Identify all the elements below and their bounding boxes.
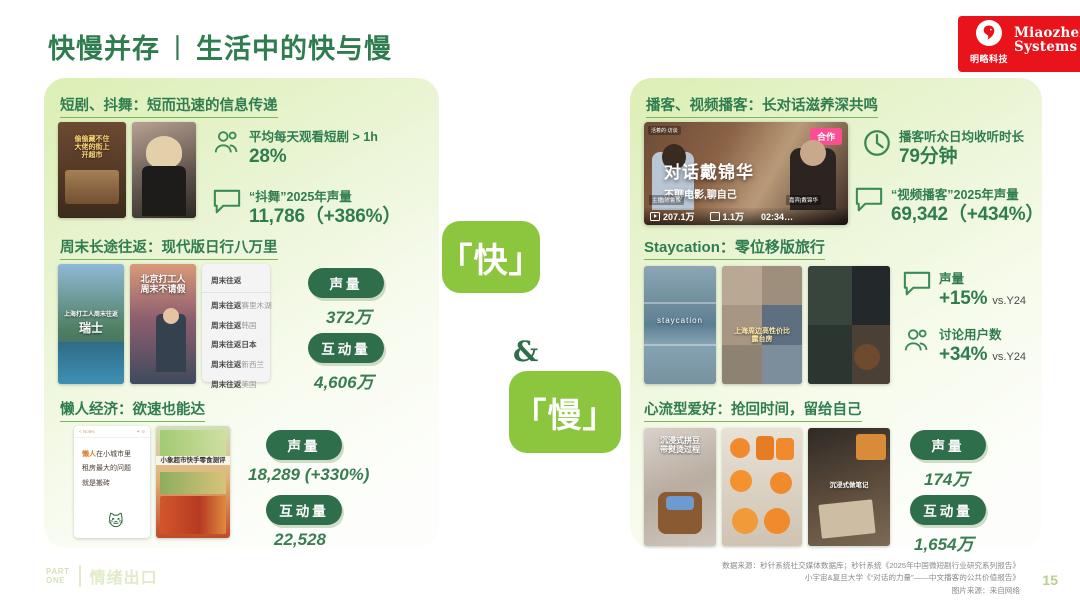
perler-bear-hat [666, 496, 694, 510]
comment-count-icon [710, 212, 720, 221]
slow-pill: 「慢」 [509, 371, 621, 453]
stat-listen-text: 播客听众日均收听时长 79分钟 [899, 128, 1024, 167]
metric-value-volume-flow: 174万 [924, 465, 969, 490]
carrot-bead-3 [776, 438, 794, 460]
part-label: PART ONE 情绪出口 [46, 564, 158, 588]
carrot-bead-2 [756, 436, 774, 460]
craft-paper [818, 499, 875, 538]
switzerland-lake [58, 342, 124, 384]
stat-video-podcast-text: “视频播客”2025年声量 69,342（+434%） [891, 186, 1044, 225]
suggest-row-header[interactable]: 周末往返 [202, 271, 270, 293]
metric-value-engagement-flow: 1,654万 [914, 530, 974, 555]
video-duration: 02:34… [761, 212, 793, 222]
snack-collage-caption: 小象超市快手零食测评 [156, 456, 230, 465]
snack-row-1 [160, 430, 226, 456]
stat-staycation-users-value: +34% [939, 344, 987, 365]
section-title-short-drama: 短剧、抖舞：短而迅速的信息传递 [60, 94, 278, 118]
slow-pill-label: 「慢」 [513, 388, 618, 437]
metric-value-volume-lazy: 18,289 (+330%) [248, 465, 369, 485]
logo-en-line2: Systems [1014, 41, 1080, 55]
snack-row-3 [160, 496, 226, 534]
metric-pill-engagement-lazy: 互动量 [266, 495, 342, 525]
perler-caption: 沉浸式拼豆带熨烫过程 [644, 436, 716, 454]
note-line1-prefix: 懒人 [82, 449, 96, 458]
carrot-bead-7 [764, 508, 790, 534]
miaozhen-logo: 明略科技 Miaozhen Systems [958, 16, 1080, 72]
drama-poster: 偷偷藏不住大佬的街上开超市 [58, 122, 126, 218]
stat-staycation-volume: 声量 +15% vs.Y24 [902, 270, 1026, 309]
comment-icon [902, 270, 932, 303]
title-divider: 丨 [160, 34, 196, 64]
stat-staycation-users-label: 讨论用户数 [939, 328, 1002, 342]
people-icon [212, 128, 242, 163]
video-play-group: 207.1万 [650, 210, 695, 223]
note-back-label[interactable]: < Notes [79, 429, 95, 434]
stat-staycation-volume-suffix: vs.Y24 [992, 295, 1026, 307]
source-line-3: 图片来源：来自网络 [722, 585, 1020, 597]
hotel-tile-6 [762, 345, 802, 384]
video-comment-group: 1.1万 [710, 210, 745, 223]
hotel-collage: 上海周边高性价比露台房 [722, 266, 802, 384]
video-title-line1: 对话戴锦华 [664, 158, 754, 183]
craft-photo: 沉浸式做笔记 [808, 428, 890, 546]
stat-daily-watch: 平均每天观看短剧 > 1h 28% [212, 128, 378, 167]
stat-staycation-volume-text: 声量 +15% vs.Y24 [939, 270, 1026, 309]
carrot-bead-4 [730, 470, 752, 492]
snack-row-2 [160, 472, 226, 494]
carrot-bead-5 [770, 472, 792, 494]
hotel-tile-5 [722, 345, 762, 384]
stat-douwu-text: “抖舞”2025年声量 11,786（+386%） [249, 188, 401, 227]
fast-pill: 「快」 [442, 221, 540, 293]
craft-orange-object [856, 434, 886, 460]
stat-video-podcast-label: “视频播客”2025年声量 [891, 188, 1019, 202]
cat-emoji-icon: 🐱 [108, 512, 124, 530]
staycation-divider-2 [644, 344, 716, 346]
stat-listen-duration: 播客听众日均收听时长 79分钟 [862, 128, 1024, 167]
section-title-lazy-economy: 懒人经济：欲速也能达 [60, 398, 205, 422]
lazy-note-card: < Notes ✦ ⊙ 懒人在小城市里 租房最大的问题 就是搬砖 🐱 [74, 426, 150, 538]
staycation-caption: staycation [644, 316, 716, 325]
suggest-3-gray: 新西兰 [241, 360, 264, 369]
metric-pill-volume-lazy: 声量 [266, 430, 342, 460]
stat-listen-value: 79分钟 [899, 146, 957, 167]
staycation-divider-1 [644, 302, 716, 304]
video-play-count: 207.1万 [663, 210, 695, 223]
staycation-lake: staycation [644, 266, 716, 384]
search-suggest-list[interactable]: 周末往返 周末往返赛里木湖 周末往返韩国 周末往返日本 周末往返新西兰 周末往返… [202, 264, 270, 382]
beijing-caption: 北京打工人周末不请假 [130, 274, 196, 295]
video-corner-label: 活着的·访谈 [648, 126, 681, 135]
metric-pill-engagement-flow: 互动量 [910, 495, 986, 525]
source-line-1: 数据来源：秒针系统社交媒体数据库；秒针系统《2025年中国微短剧行业研究系列报告… [722, 560, 1020, 572]
switzerland-caption-main: 瑞士 [58, 322, 124, 336]
carrot-bead-6 [732, 508, 758, 534]
suggest-0-bold: 周末往返 [211, 301, 241, 310]
drama-poster-figures [65, 170, 119, 204]
bird-logo-icon [976, 20, 1002, 46]
people-icon [902, 326, 932, 361]
page-title: 快慢并存丨生活中的快与慢 [48, 27, 392, 66]
snack-collage: 小象超市快手零食测评 [156, 426, 230, 538]
video-host-tag: 主播|陈鲁豫 [649, 195, 684, 205]
dance-video-body [142, 166, 186, 216]
metric-value-engagement-lazy: 22,528 [274, 530, 326, 550]
source-line-2: 小宇宙&复旦大学《“对话的力量”——中文播客的公共价值报告》 [722, 572, 1020, 584]
suggest-0-gray: 赛里木湖 [241, 301, 271, 310]
switzerland-poster: 上海打工人周末往返 瑞士 [58, 264, 124, 384]
suggest-4-bold: 周末往返 [211, 380, 241, 389]
page-title-main: 快慢并存 [48, 34, 160, 64]
stat-daily-watch-value: 28% [249, 146, 286, 167]
note-line1: 在小城市里 [96, 450, 131, 458]
suggest-1-gray: 韩国 [241, 321, 256, 330]
ampersand-label: & [513, 335, 538, 368]
logo-left-group: 明略科技 [970, 24, 1008, 65]
beijing-poster: 北京打工人周末不请假 [130, 264, 196, 384]
logo-cn-text: 明略科技 [970, 52, 1008, 65]
play-icon [650, 212, 660, 221]
villa-collage [808, 266, 890, 384]
hotel-tile-2 [762, 266, 802, 305]
stat-video-podcast-value: 69,342（+434%） [891, 204, 1044, 225]
suggest-row-4[interactable]: 周末往返美国 [202, 375, 270, 395]
note-bar-icons: ✦ ⊙ [136, 429, 145, 435]
suggest-row-1[interactable]: 周末往返韩国 [202, 315, 270, 335]
suggest-3-bold: 周末往返 [211, 360, 241, 369]
suggest-row-2[interactable]: 周末往返日本 [202, 335, 270, 355]
stat-staycation-volume-label: 声量 [939, 272, 964, 286]
stat-staycation-users: 讨论用户数 +34% vs.Y24 [902, 326, 1026, 365]
stat-daily-watch-label: 平均每天观看短剧 > 1h [249, 130, 378, 144]
video-comment-count: 1.1万 [723, 210, 745, 223]
hotel-tile-1 [722, 266, 762, 305]
stat-listen-label: 播客听众日均收听时长 [899, 130, 1024, 144]
podcast-video-card[interactable]: 活着的·访谈 合作 对话戴锦华 不聊电影,聊自己 主播|陈鲁豫 嘉宾|戴锦华 2… [644, 122, 848, 225]
section-title-podcast: 播客、视频播客：长对话滋养深共鸣 [646, 94, 878, 118]
source-note: 数据来源：秒针系统社交媒体数据库；秒针系统《2025年中国微短剧行业研究系列报告… [722, 560, 1020, 597]
stat-staycation-volume-value: +15% [939, 288, 987, 309]
stat-douwu-volume: “抖舞”2025年声量 11,786（+386%） [212, 188, 401, 227]
stat-daily-watch-text: 平均每天观看短剧 > 1h 28% [249, 128, 378, 167]
clock-icon [862, 128, 892, 163]
section-title-weekend-travel: 周末长途往返：现代版日行八万里 [60, 236, 278, 260]
metric-value-engagement-travel: 4,606万 [314, 368, 374, 393]
carrot-beads-photo [722, 428, 802, 546]
page-number: 15 [1042, 572, 1058, 588]
perler-beads-photo: 沉浸式拼豆带熨烫过程 [644, 428, 716, 546]
villa-tile-2 [852, 266, 890, 325]
part-title: 情绪出口 [90, 564, 158, 588]
suggest-4-gray: 美国 [241, 380, 256, 389]
villa-food-bowl [854, 344, 880, 370]
suggest-2-bold: 周末往返日本 [211, 340, 257, 349]
metric-value-volume-travel: 372万 [326, 303, 371, 328]
beijing-person-head [163, 308, 179, 324]
note-line3: 就是搬砖 [82, 479, 110, 487]
note-line2: 租房最大的问题 [82, 464, 131, 472]
metric-pill-engagement-travel: 互动量 [308, 333, 384, 363]
dance-video [132, 122, 196, 218]
comment-icon [854, 186, 884, 219]
stat-staycation-users-text: 讨论用户数 +34% vs.Y24 [939, 326, 1026, 365]
video-stats-bar: 207.1万 1.1万 02:34… [644, 208, 848, 225]
logo-en-group: Miaozhen Systems [1014, 27, 1080, 55]
part-line1: PART [46, 567, 70, 576]
section-title-flow-hobby: 心流型爱好：抢回时间，留给自己 [644, 398, 862, 422]
note-text: 懒人在小城市里 租房最大的问题 就是搬砖 [74, 438, 150, 490]
section-title-staycation: Staycation：零位移版旅行 [644, 236, 825, 260]
video-tag-row: 主播|陈鲁豫 嘉宾|戴锦华 [649, 195, 821, 205]
part-divider [79, 565, 81, 587]
craft-caption: 沉浸式做笔记 [808, 482, 890, 489]
carrot-bead-1 [730, 438, 750, 458]
metric-pill-volume-flow: 声量 [910, 430, 986, 460]
fast-pill-label: 「快」 [439, 233, 544, 282]
villa-tile-3 [808, 325, 852, 384]
part-ordinal: PART ONE [46, 567, 70, 585]
right-panel: 播客、视频播客：长对话滋养深共鸣 活着的·访谈 合作 对话戴锦华 不聊电影,聊自… [630, 78, 1042, 548]
page-title-sub: 生活中的快与慢 [196, 34, 392, 64]
switzerland-caption-small: 上海打工人周末往返 [58, 312, 124, 319]
villa-tile-1 [808, 266, 852, 325]
metric-pill-volume-travel: 声量 [308, 268, 384, 298]
hotel-collage-caption: 上海周边高性价比露台房 [722, 328, 802, 344]
slide-root: 明略科技 Miaozhen Systems 快慢并存丨生活中的快与慢 短剧、抖舞… [0, 0, 1080, 608]
stat-douwu-label: “抖舞”2025年声量 [249, 190, 352, 204]
stat-video-podcast-volume: “视频播客”2025年声量 69,342（+434%） [854, 186, 1044, 225]
video-guest-tag: 嘉宾|戴锦华 [786, 195, 821, 205]
drama-poster-caption: 偷偷藏不住大佬的街上开超市 [58, 136, 126, 160]
comment-icon [212, 188, 242, 221]
note-top-bar: < Notes ✦ ⊙ [74, 426, 150, 438]
suggest-1-bold: 周末往返 [211, 321, 241, 330]
stat-douwu-value: 11,786（+386%） [249, 206, 401, 227]
suggest-row-0[interactable]: 周末往返赛里木湖 [202, 295, 270, 315]
dance-video-subject [146, 136, 182, 168]
part-line2: ONE [46, 576, 70, 585]
stat-staycation-users-suffix: vs.Y24 [992, 351, 1026, 363]
video-guest-head [800, 140, 826, 166]
suggest-row-3[interactable]: 周末往返新西兰 [202, 355, 270, 375]
left-panel: 短剧、抖舞：短而迅速的信息传递 偷偷藏不住大佬的街上开超市 平均每天观看短剧 >… [44, 78, 439, 548]
